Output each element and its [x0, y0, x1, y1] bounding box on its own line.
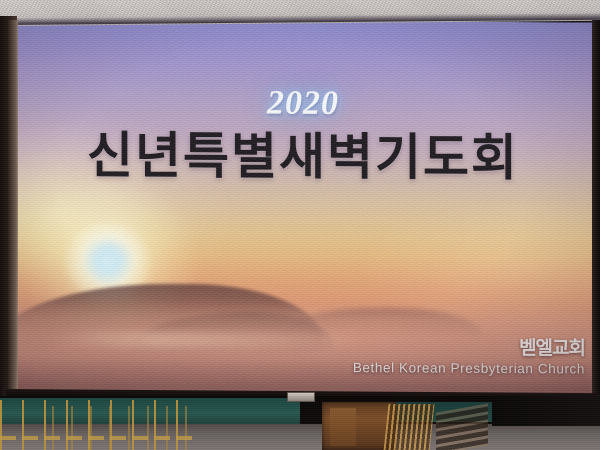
projected-slide-photo: 2020 신년특별새벽기도회 벧엘교회 Bethel Korean Presby… — [0, 0, 600, 450]
stairs — [436, 403, 488, 450]
chair-seats — [0, 436, 195, 440]
chair-row-back — [52, 406, 192, 450]
dark-area-right — [492, 396, 600, 426]
screen-brand-label — [287, 392, 315, 402]
slide-title-korean: 신년특별새벽기도회 — [13, 129, 593, 185]
projection-screen: 2020 신년특별새벽기도회 벧엘교회 Bethel Korean Presby… — [13, 19, 593, 395]
church-logo: 벧엘교회 Bethel Korean Presbyterian Church — [353, 337, 585, 376]
church-name-english: Bethel Korean Presbyterian Church — [353, 360, 585, 376]
sanctuary-below-screen — [0, 396, 600, 450]
pulpit-panel — [330, 408, 356, 446]
sun-core — [83, 239, 133, 283]
church-name-korean: 벧엘교회 — [353, 337, 585, 359]
wall-right — [592, 20, 600, 395]
wall-left-pillar — [8, 20, 18, 396]
fog-streak — [43, 331, 363, 349]
organ-pipes — [384, 404, 435, 450]
slide-year: 2020 — [13, 83, 593, 125]
